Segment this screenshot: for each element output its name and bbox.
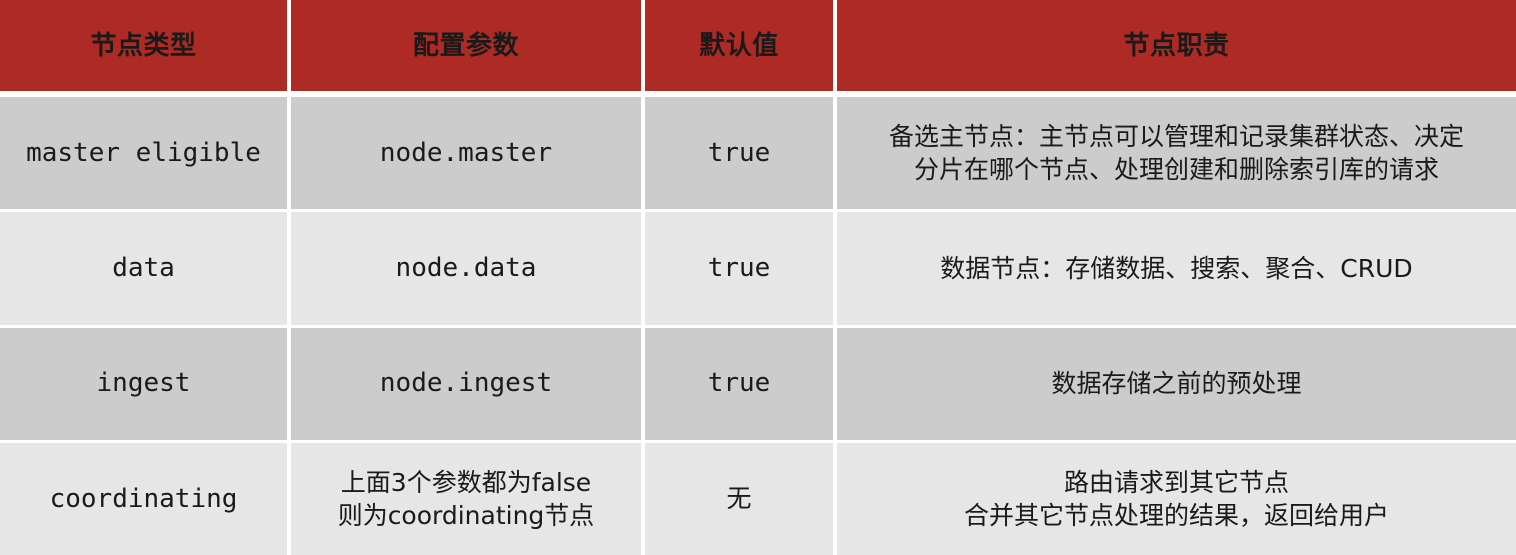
cell-responsibility: 路由请求到其它节点 合并其它节点处理的结果，返回给用户 xyxy=(837,443,1516,555)
column-header-config-param: 配置参数 xyxy=(291,0,641,91)
cell-config-param: node.master xyxy=(291,97,641,209)
table-row: ingest node.ingest true 数据存储之前的预处理 xyxy=(0,328,1516,440)
cell-config-param: node.data xyxy=(291,212,641,324)
column-header-responsibility: 节点职责 xyxy=(837,0,1516,91)
column-header-config-param-label: 配置参数 xyxy=(413,28,519,62)
cell-config-param: 上面3个参数都为false 则为coordinating节点 xyxy=(291,443,641,555)
column-header-node-type: 节点类型 xyxy=(0,0,287,91)
column-header-default-value-label: 默认值 xyxy=(699,28,779,62)
table-row: coordinating 上面3个参数都为false 则为coordinatin… xyxy=(0,443,1516,555)
column-header-default-value: 默认值 xyxy=(645,0,833,91)
column-header-responsibility-label: 节点职责 xyxy=(1123,28,1229,62)
table-header-row: 节点类型 配置参数 默认值 节点职责 xyxy=(0,0,1516,91)
cell-default-value: true xyxy=(645,97,833,209)
cell-config-param: node.ingest xyxy=(291,328,641,440)
cell-default-value: true xyxy=(645,328,833,440)
cell-node-type: ingest xyxy=(0,328,287,440)
table-row: master eligible node.master true 备选主节点：主… xyxy=(0,97,1516,209)
cell-responsibility: 备选主节点：主节点可以管理和记录集群状态、决定 分片在哪个节点、处理创建和删除索… xyxy=(837,97,1516,209)
table-row: data node.data true 数据节点：存储数据、搜索、聚合、CRUD xyxy=(0,212,1516,324)
cell-node-type: data xyxy=(0,212,287,324)
cell-node-type: master eligible xyxy=(0,97,287,209)
cell-default-value: true xyxy=(645,212,833,324)
cell-responsibility: 数据存储之前的预处理 xyxy=(837,328,1516,440)
cell-default-value: 无 xyxy=(645,443,833,555)
node-roles-table: 节点类型 配置参数 默认值 节点职责 master eligible node.… xyxy=(0,0,1516,555)
column-header-node-type-label: 节点类型 xyxy=(90,28,196,62)
cell-responsibility: 数据节点：存储数据、搜索、聚合、CRUD xyxy=(837,212,1516,324)
cell-node-type: coordinating xyxy=(0,443,287,555)
